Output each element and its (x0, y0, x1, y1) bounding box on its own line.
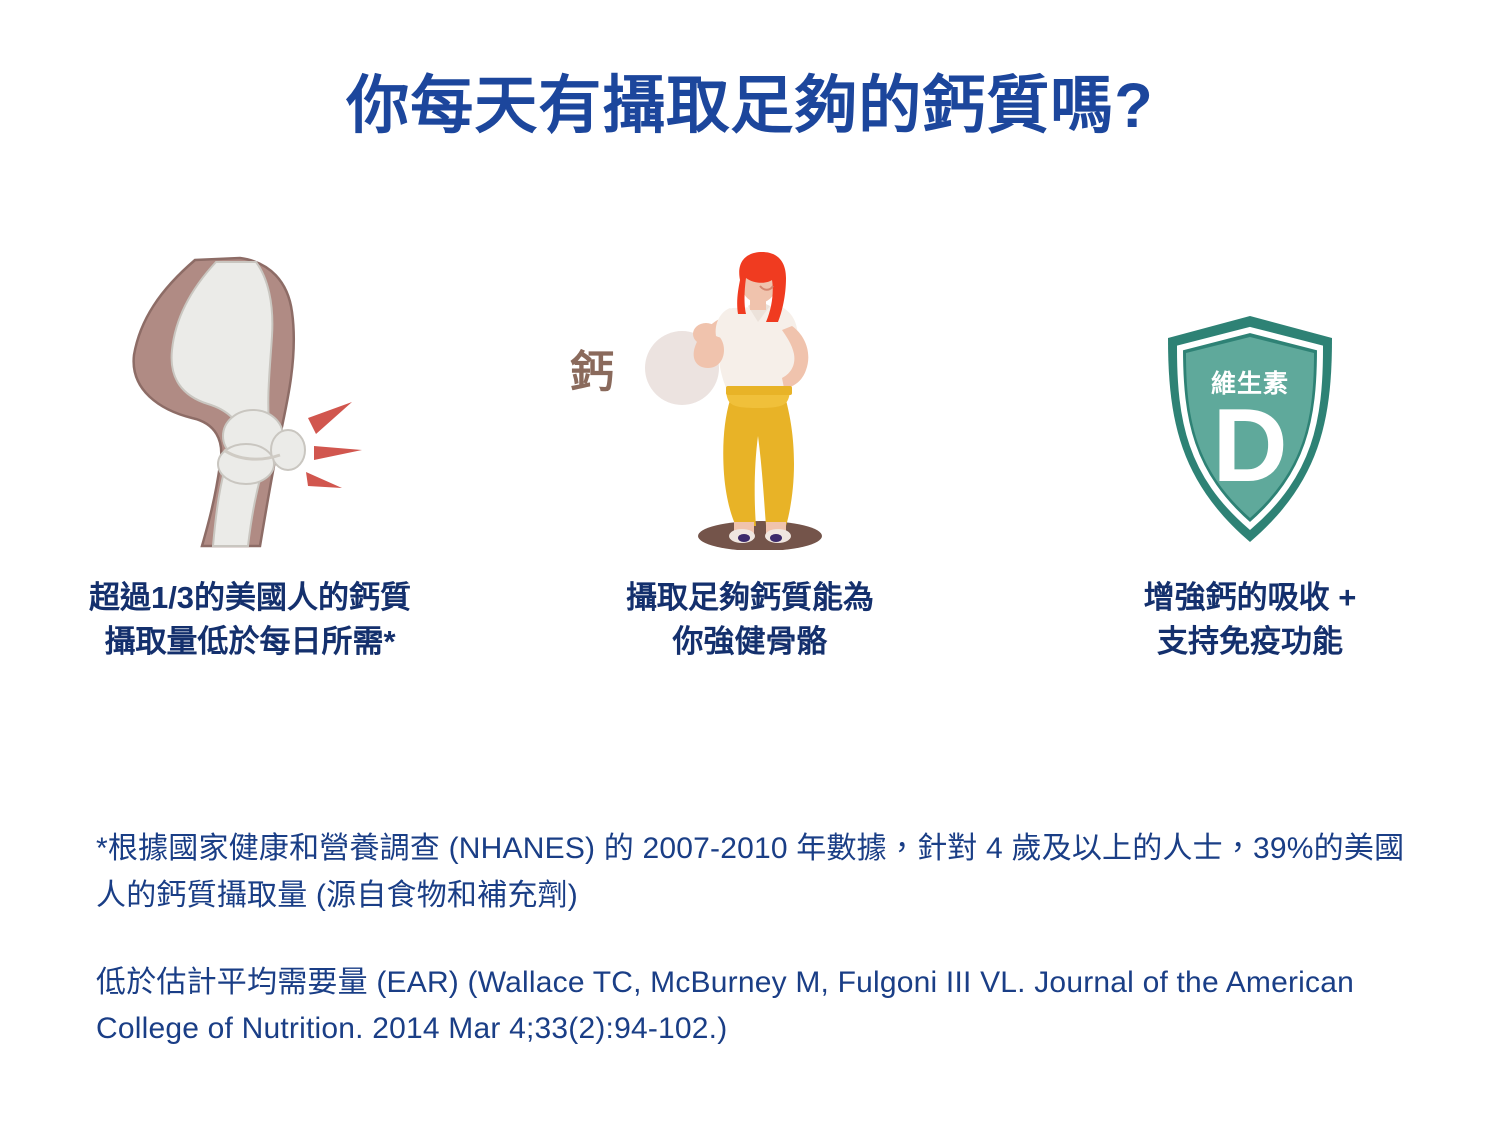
shield-letter-d: D (1150, 394, 1350, 498)
footnote-citation: 低於估計平均需要量 (EAR) (Wallace TC, McBurney M,… (96, 960, 1416, 1054)
knee-joint-pain-icon (120, 250, 380, 550)
page-title: 你每天有攝取足夠的鈣質嗎? (0, 72, 1500, 141)
shield-art-area: 維生素 D (1020, 240, 1480, 550)
calcium-badge-label: 鈣 (556, 336, 628, 400)
feature-caption-shield: 增強鈣的吸收 + 支持免疫功能 (1144, 576, 1357, 664)
footnote-nhanes: *根據國家健康和營養調查 (NHANES) 的 2007-2010 年數據，針對… (96, 826, 1416, 920)
footnotes: *根據國家健康和營養調查 (NHANES) 的 2007-2010 年數據，針對… (96, 826, 1416, 1053)
feature-caption-knee: 超過1/3的美國人的鈣質 攝取量低於每日所需* (89, 576, 411, 664)
feature-column-knee: 超過1/3的美國人的鈣質 攝取量低於每日所需* (20, 240, 480, 664)
feature-caption-woman: 攝取足夠鈣質能為 你強健骨骼 (626, 576, 874, 664)
feature-column-shield: 維生素 D 增強鈣的吸收 + 支持免疫功能 (1020, 240, 1480, 664)
strong-woman-calcium-icon (620, 250, 880, 550)
knee-art-area (20, 240, 480, 550)
feature-columns: 超過1/3的美國人的鈣質 攝取量低於每日所需* (0, 240, 1500, 664)
pain-marks-icon (306, 402, 362, 488)
infographic-page: 你每天有攝取足夠的鈣質嗎? (0, 0, 1500, 1144)
feature-column-woman: 鈣 攝取足夠鈣質能為 你強健骨骼 (520, 240, 980, 664)
woman-art-area: 鈣 (520, 240, 980, 550)
